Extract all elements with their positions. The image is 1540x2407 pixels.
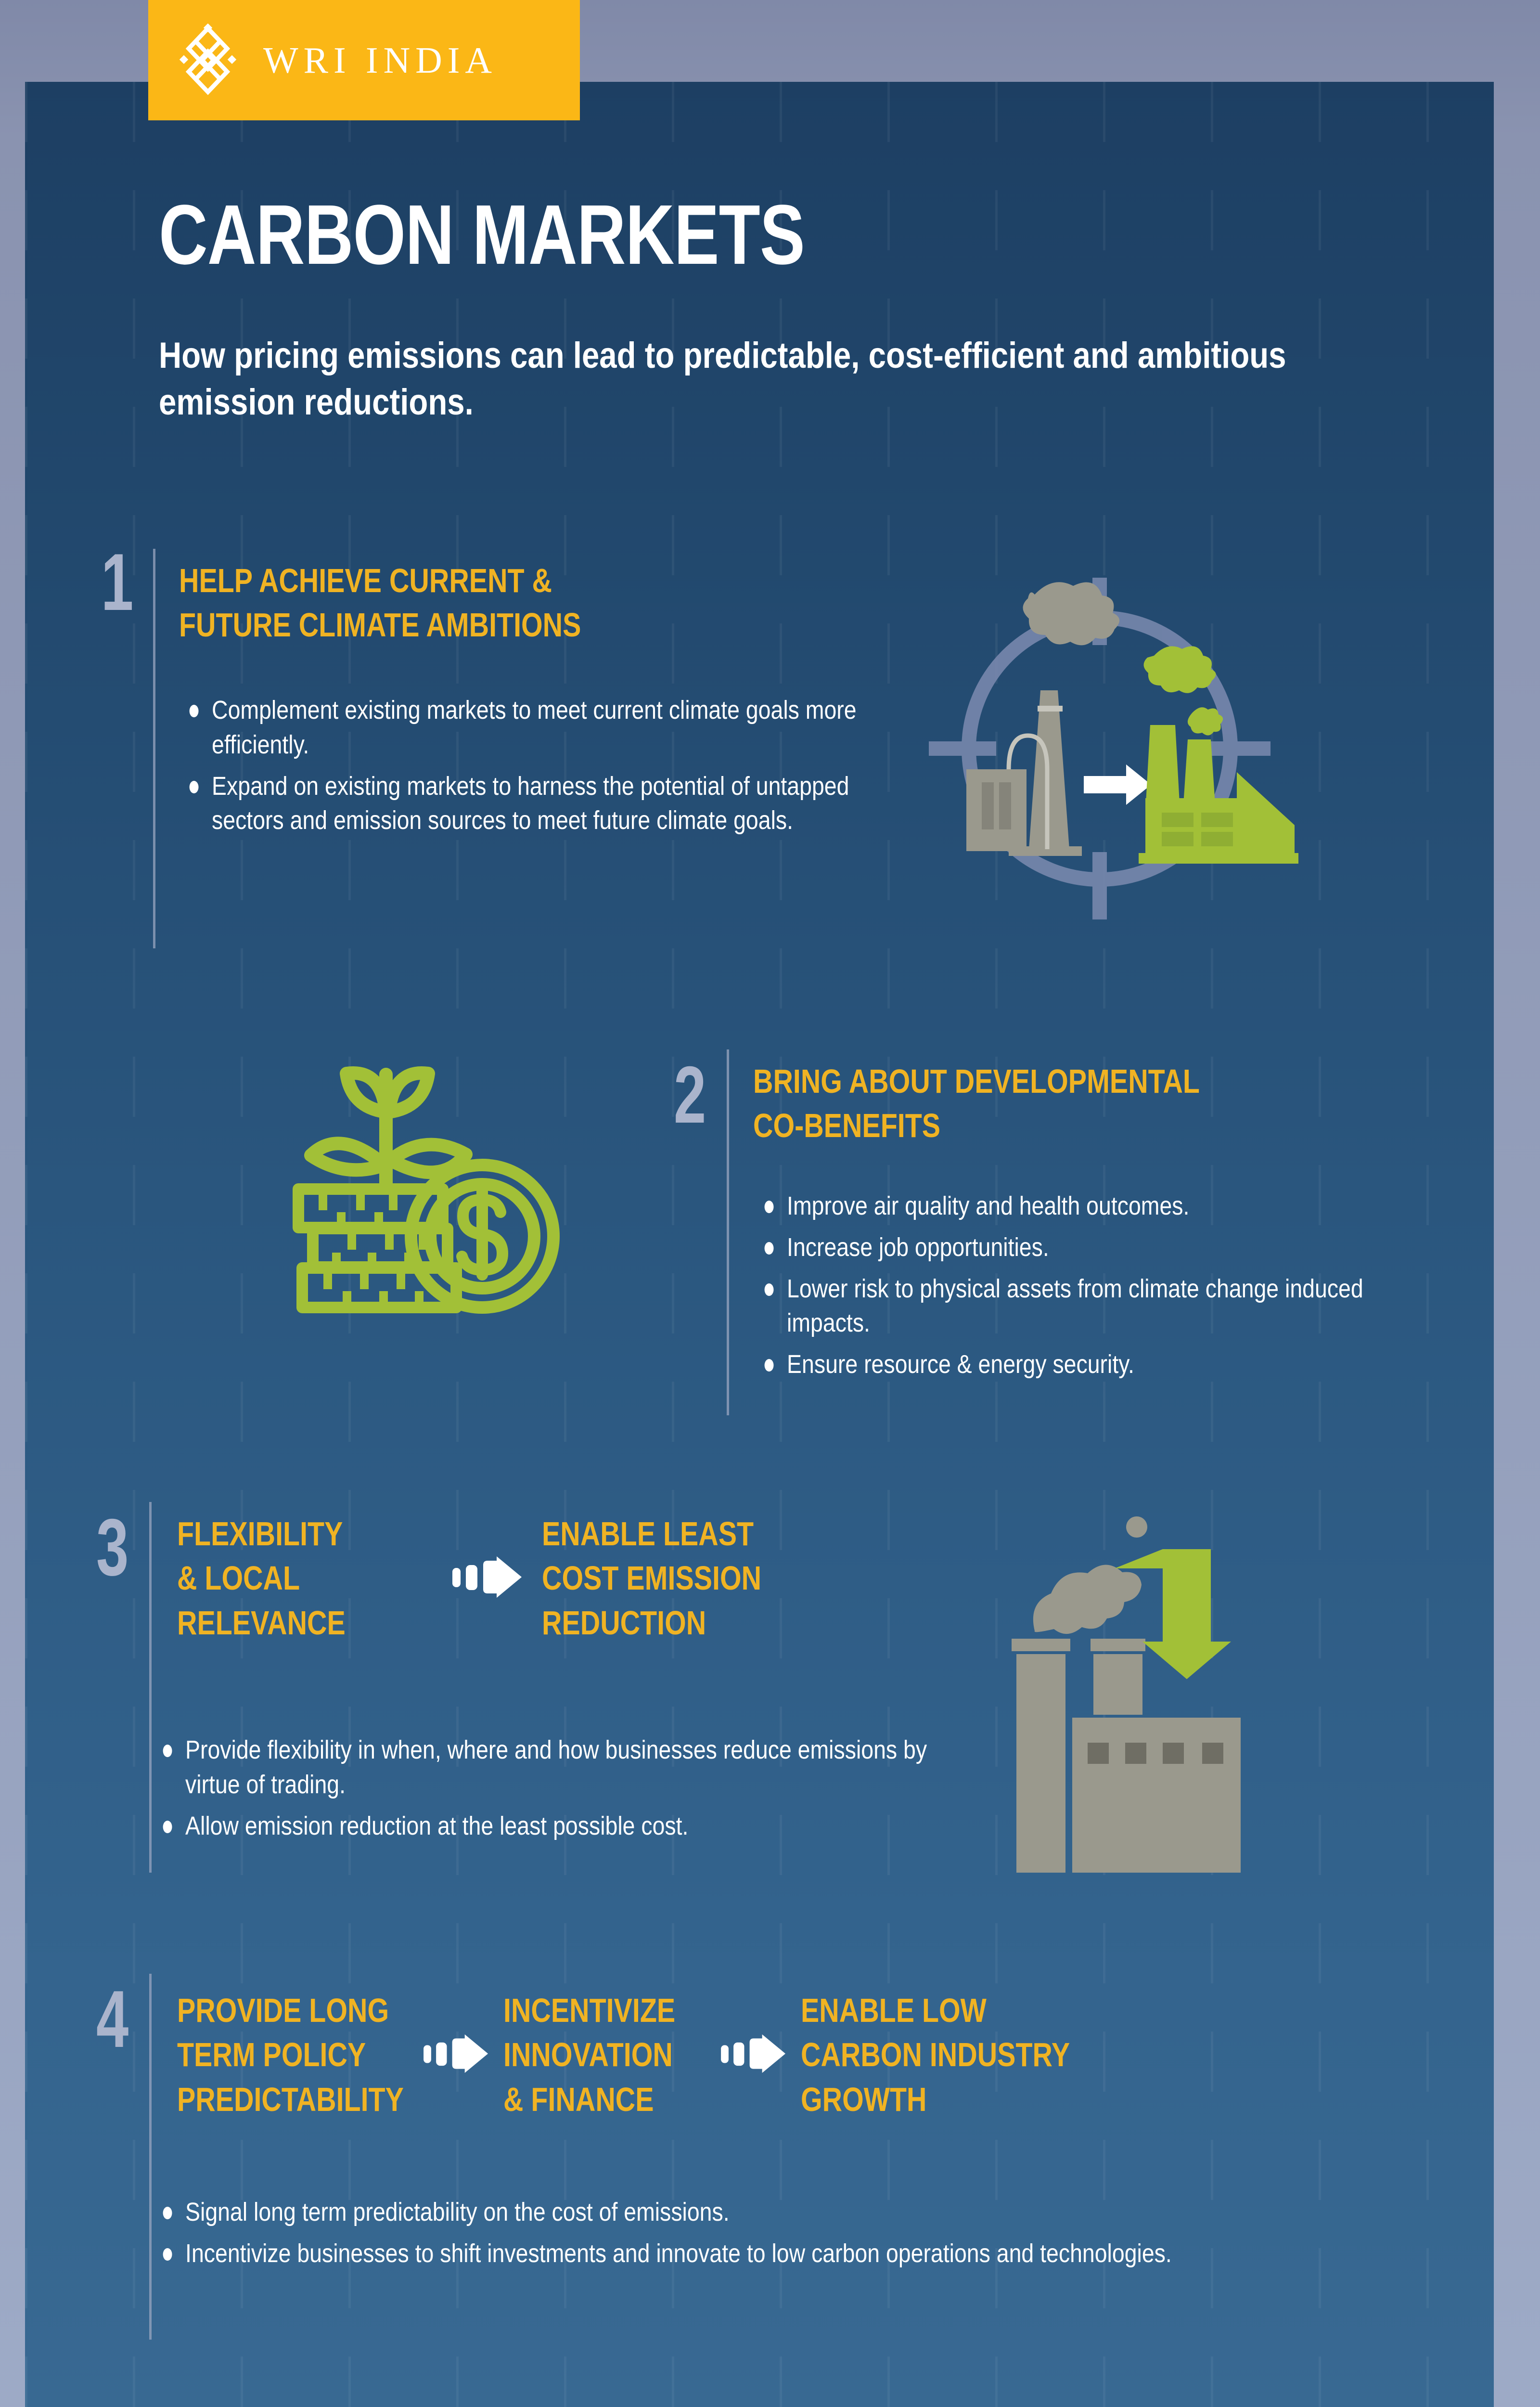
- section-1-rule: [153, 549, 155, 948]
- factory-target-icon: [914, 568, 1299, 934]
- section-4-heading-flow: PROVIDE LONG TERM POLICY PREDICTABILITY …: [177, 1988, 1205, 2122]
- section-3-heading-b: ENABLE LEAST COST EMISSION REDUCTION: [542, 1512, 850, 1645]
- list-item: Incentivize businesses to shift investme…: [159, 2237, 1193, 2271]
- page-subtitle: How pricing emissions can lead to predic…: [159, 332, 1293, 426]
- wri-india-wordmark: WRI INDIA: [263, 42, 497, 79]
- section-2-rule: [727, 1049, 729, 1415]
- section-2-number: 2: [674, 1054, 706, 1135]
- section-4-heading-c: ENABLE LOW CARBON INDUSTRY GROWTH: [801, 1988, 1132, 2122]
- section-1-bullets: Complement existing markets to meet curr…: [185, 693, 889, 838]
- list-item: Lower risk to physical assets from clima…: [760, 1272, 1373, 1341]
- factory-down-arrow-icon: [1006, 1502, 1304, 1873]
- page-title: CARBON MARKETS: [159, 193, 805, 277]
- section-3-heading-flow: FLEXIBILITY & LOCAL RELEVANCE ENABLE LEA…: [177, 1512, 917, 1645]
- plant-money-icon: [260, 1021, 606, 1367]
- list-item: Improve air quality and health outcomes.: [760, 1189, 1373, 1224]
- section-4-bullets: Signal long term predictability on the c…: [159, 2195, 1193, 2271]
- wri-knot-logo-icon: [178, 24, 238, 97]
- section-1-heading: HELP ACHIEVE CURRENT & FUTURE CLIMATE AM…: [179, 558, 850, 647]
- section-3-number: 3: [96, 1507, 128, 1588]
- list-item: Allow emission reduction at the least po…: [159, 1809, 987, 1844]
- wri-india-logo[interactable]: WRI INDIA: [148, 0, 580, 120]
- section-2-heading: BRING ABOUT DEVELOPMENTAL CO-BENEFITS: [753, 1059, 1345, 1148]
- section-4-heading-b: INCENTIVIZE INNOVATION & FINANCE: [503, 1988, 724, 2122]
- list-item: Expand on existing markets to harness th…: [185, 769, 889, 839]
- section-2-bullets: Improve air quality and health outcomes.…: [760, 1189, 1373, 1382]
- list-item: Increase job opportunities.: [760, 1230, 1373, 1265]
- list-item: Provide flexibility in when, where and h…: [159, 1733, 987, 1802]
- list-item: Signal long term predictability on the c…: [159, 2195, 1193, 2230]
- section-4-heading-a: PROVIDE LONG TERM POLICY PREDICTABILITY: [177, 1988, 422, 2122]
- motion-arrow-right-icon: [451, 1556, 524, 1600]
- section-1-number: 1: [101, 542, 133, 622]
- plant-gears-icon: [226, 2393, 611, 2407]
- list-item: Complement existing markets to meet curr…: [185, 693, 889, 763]
- section-4-rule: [149, 1974, 152, 2340]
- section-4-number: 4: [96, 1979, 128, 2059]
- section-3-heading-a: FLEXIBILITY & LOCAL RELEVANCE: [177, 1512, 430, 1645]
- list-item: Ensure resource & energy security.: [760, 1347, 1373, 1382]
- section-3-bullets: Provide flexibility in when, where and h…: [159, 1733, 987, 1843]
- section-3-rule: [149, 1502, 152, 1873]
- motion-arrow-right-icon: [720, 2034, 787, 2075]
- infographic-page: WRI INDIA CARBON MARKETS How pricing emi…: [0, 0, 1540, 2407]
- motion-arrow-right-icon: [423, 2034, 490, 2075]
